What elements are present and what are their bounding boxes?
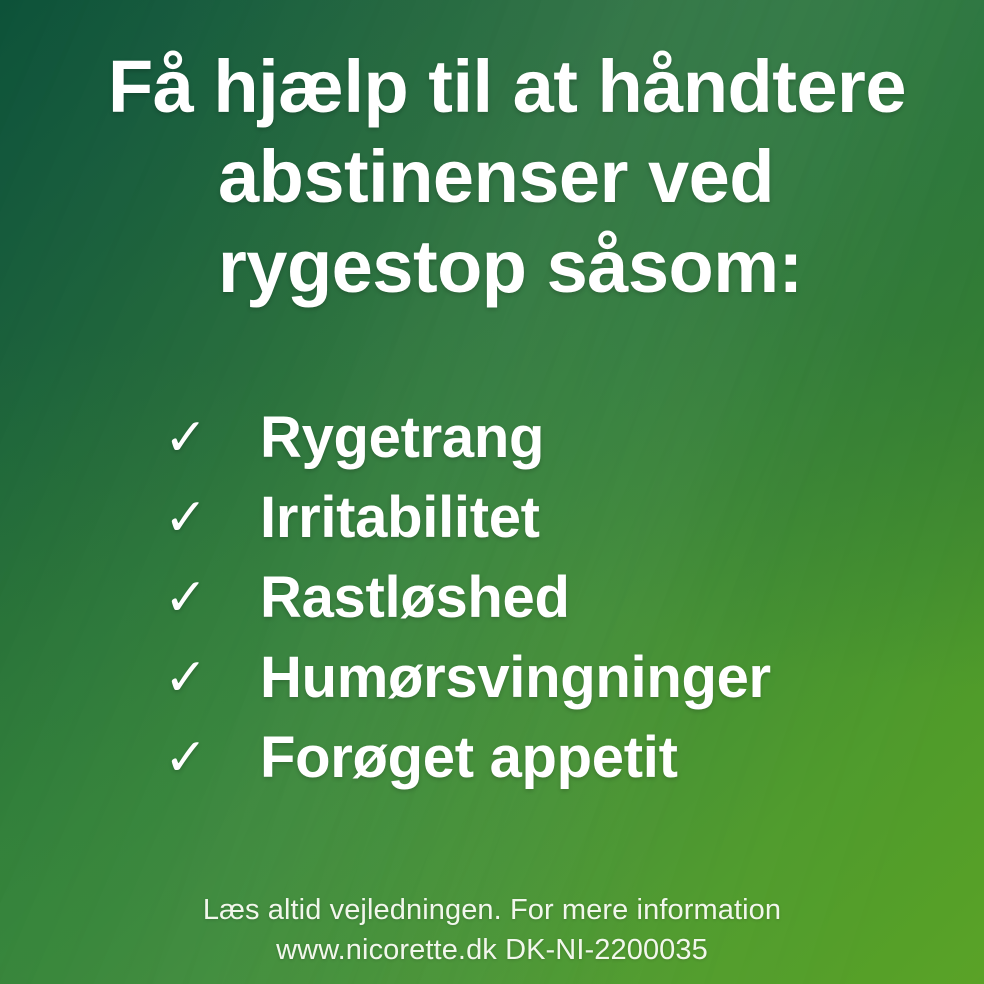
check-icon: ✓ bbox=[160, 492, 260, 544]
headline-line-2: abstinenser ved bbox=[108, 132, 928, 222]
check-icon: ✓ bbox=[160, 572, 260, 624]
list-item-label: Forøget appetit bbox=[260, 729, 678, 787]
headline-line-1: Få hjælp til at håndtere bbox=[108, 42, 928, 132]
list-item-label: Rastløshed bbox=[260, 569, 570, 627]
headline-line-3: rygestop såsom: bbox=[108, 222, 928, 312]
poster-content: Få hjælp til at håndtere abstinenser ved… bbox=[0, 0, 984, 984]
list-item-label: Humørsvingninger bbox=[260, 649, 771, 707]
poster-canvas: Få hjælp til at håndtere abstinenser ved… bbox=[0, 0, 984, 984]
list-item: ✓ Rygetrang bbox=[160, 398, 950, 478]
headline: Få hjælp til at håndtere abstinenser ved… bbox=[108, 42, 928, 312]
list-item: ✓ Irritabilitet bbox=[160, 478, 950, 558]
check-icon: ✓ bbox=[160, 412, 260, 464]
symptom-checklist: ✓ Rygetrang ✓ Irritabilitet ✓ Rastløshed… bbox=[160, 398, 950, 798]
footer-disclaimer: Læs altid vejledningen. For mere informa… bbox=[0, 890, 984, 970]
list-item-label: Rygetrang bbox=[260, 409, 544, 467]
list-item: ✓ Humørsvingninger bbox=[160, 638, 950, 718]
footer-line-2: www.nicorette.dk DK-NI-2200035 bbox=[0, 930, 984, 970]
check-icon: ✓ bbox=[160, 652, 260, 704]
list-item: ✓ Rastløshed bbox=[160, 558, 950, 638]
list-item-label: Irritabilitet bbox=[260, 489, 540, 547]
list-item: ✓ Forøget appetit bbox=[160, 718, 950, 798]
footer-line-1: Læs altid vejledningen. For mere informa… bbox=[0, 890, 984, 930]
check-icon: ✓ bbox=[160, 732, 260, 784]
